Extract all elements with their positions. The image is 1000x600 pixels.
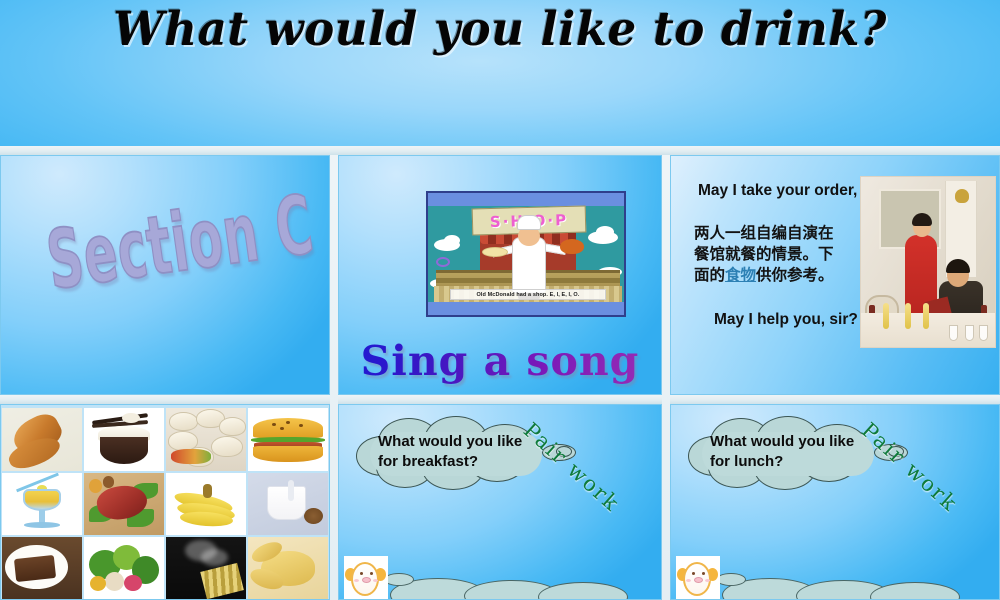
bubble-text-lunch: What would you like for lunch?	[710, 432, 870, 472]
food-cell-croissant[interactable]	[2, 408, 82, 471]
sing-a-song-heading: Sing a song	[338, 337, 662, 385]
banana-stem	[203, 484, 213, 498]
bubble-line-1: What would you like	[710, 432, 870, 452]
dumpling	[211, 436, 243, 457]
bubble-line-1: What would you like	[378, 432, 538, 452]
side-walnut	[103, 476, 114, 487]
food-cell-bananas[interactable]	[166, 473, 246, 536]
slide-canvas: What would you like to drink? Section C …	[0, 0, 1000, 600]
restaurant-photo[interactable]	[860, 176, 996, 348]
bottom-cloud	[538, 582, 628, 600]
chef-hat-icon	[517, 215, 541, 230]
mascot-eye	[692, 572, 695, 575]
food-cell-dumplings[interactable]	[166, 408, 246, 471]
photo-wall-emblem	[955, 189, 969, 203]
food-hyperlink[interactable]: 食物	[725, 266, 756, 284]
mascot-arm-cloud	[384, 573, 414, 586]
chinese-line-3: 面的食物供你参考。	[694, 265, 844, 286]
cloud-icon	[444, 235, 460, 246]
chinese-instruction-block: 两人一组自编自演在 餐馆就餐的情景。下 面的食物供你参考。	[694, 223, 844, 286]
photo-candle	[905, 303, 911, 329]
food-cell-steak[interactable]	[84, 473, 164, 536]
bubble-line-2: for lunch?	[710, 452, 870, 472]
mascot-cheek	[686, 579, 691, 582]
panel-may-i-take-your-order[interactable]: May I take your order, sir? 两人一组自编自演在 餐馆…	[670, 155, 1000, 395]
panel-pair-work-lunch[interactable]: What would you like for lunch? Pair work	[670, 404, 1000, 600]
mascot-arm-cloud	[716, 573, 746, 586]
chocolate-cake-slice	[14, 555, 56, 582]
burger-bottom-bun	[253, 446, 323, 462]
shop-cartoon-image[interactable]: S·H·O·P Old McDonald had a shop. E, I, E…	[426, 191, 626, 317]
sesame-seed	[299, 424, 303, 427]
planet-icon	[436, 257, 450, 267]
food-cell-hotpot[interactable]	[166, 537, 246, 600]
side-vegetable	[89, 479, 102, 493]
page-title: What would you like to drink?	[20, 2, 980, 57]
sesame-seed	[280, 427, 284, 430]
bottom-cloud	[870, 582, 960, 600]
photo-waitress-hair	[912, 213, 932, 226]
food-image-grid	[2, 408, 328, 600]
bubble-line-2: for breakfast?	[378, 452, 538, 472]
cocktail-glass-cup	[23, 489, 61, 512]
chinese-line-1: 两人一组自编自演在	[694, 223, 844, 244]
chinese-line-2: 餐馆就餐的情景。下	[694, 244, 844, 265]
bubble-text-breakfast: What would you like for breakfast?	[378, 432, 538, 472]
dumpling	[169, 412, 198, 431]
shop-bottom-band	[428, 302, 624, 315]
thought-bubble-lunch: What would you like for lunch?	[688, 416, 888, 490]
photo-wine-glass	[965, 325, 974, 341]
chef-plate-of-bread	[482, 247, 508, 257]
photo-wine-glass	[949, 325, 958, 341]
rice-clump	[122, 413, 140, 423]
shop-image-caption: Old McDonald had a shop. E, I, E, I, O.	[450, 289, 606, 300]
mascot-eye	[360, 572, 363, 575]
gutter-row-mid	[0, 395, 1000, 404]
chef-roast-chicken	[560, 239, 584, 254]
dumpling-garnish	[171, 449, 211, 464]
panel-food-collage[interactable]	[0, 404, 330, 600]
chinese-line-3-pre: 面的	[694, 266, 725, 284]
cookie	[304, 508, 323, 524]
rice-bowl	[100, 437, 148, 465]
mascot-eye	[702, 572, 705, 575]
cloud-icon	[596, 226, 614, 238]
mascot-cheek	[373, 579, 378, 582]
photo-candle	[923, 303, 929, 329]
slide-header: What would you like to drink?	[0, 0, 1000, 146]
cocktail-glass-foot	[24, 522, 59, 528]
gutter-row-top	[0, 146, 1000, 155]
steam	[201, 549, 228, 567]
food-cell-juice[interactable]	[2, 473, 82, 536]
panel-section-c[interactable]: Section C	[0, 155, 330, 395]
radish	[124, 575, 142, 591]
food-cell-cake[interactable]	[2, 537, 82, 600]
section-c-wordart: Section C	[41, 178, 319, 308]
mascot-nose	[694, 577, 703, 583]
line-may-i-help-you: May I help you, sir?	[714, 311, 858, 329]
food-cell-rice-bowl[interactable]	[84, 408, 164, 471]
panel-pair-work-breakfast[interactable]: What would you like for breakfast? Pair …	[338, 404, 662, 600]
dumpling	[219, 417, 246, 436]
food-cell-hamburger[interactable]	[248, 408, 328, 471]
mascot-nose	[362, 577, 371, 583]
shop-top-band	[428, 193, 624, 206]
photo-wine-glass	[979, 325, 988, 341]
chinese-line-3-post: 供你参考。	[756, 266, 834, 284]
food-cell-vegetables[interactable]	[84, 537, 164, 600]
food-cell-milk[interactable]	[248, 473, 328, 536]
photo-candle	[883, 303, 889, 329]
pig-mascot-breakfast	[344, 556, 388, 600]
panel-sing-a-song[interactable]: S·H·O·P Old McDonald had a shop. E, I, E…	[338, 155, 662, 395]
grill-tray	[200, 563, 244, 599]
mascot-cheek	[354, 579, 359, 582]
mascot-cheek	[705, 579, 710, 582]
food-cell-roast-chicken[interactable]	[248, 537, 328, 600]
gutter-col-left	[330, 155, 338, 600]
mascot-eye	[370, 572, 373, 575]
pig-mascot-lunch	[676, 556, 720, 600]
spoon-icon	[288, 480, 294, 501]
gutter-col-right	[662, 155, 670, 600]
glass-of-milk	[267, 486, 305, 520]
yellow-vegetable	[90, 576, 106, 591]
root-vegetable	[105, 572, 124, 591]
